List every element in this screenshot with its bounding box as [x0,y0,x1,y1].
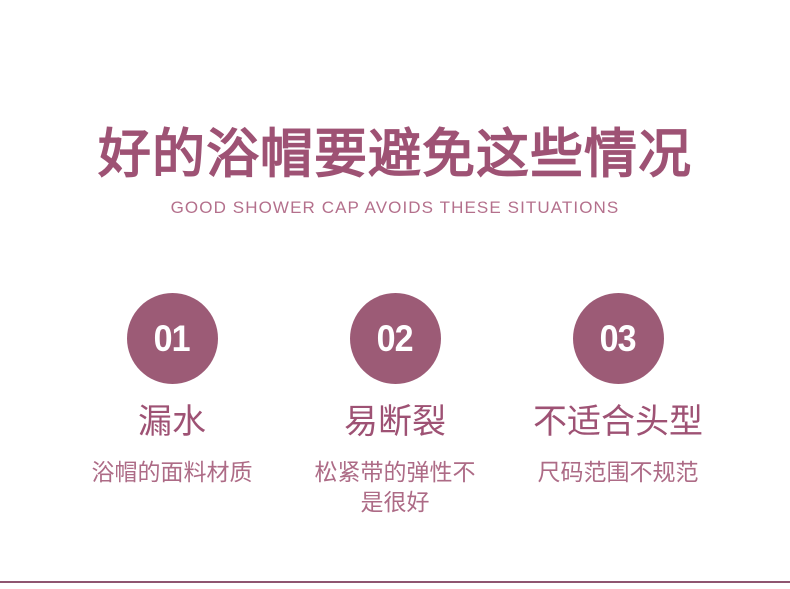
item-description-03: 尺码范围不规范 [538,457,699,487]
item-01: 01 漏水 浴帽的面料材质 [61,293,283,487]
item-heading-03: 不适合头型 [533,402,703,442]
badge-circle-02: 02 [350,293,441,384]
badge-number-02: 02 [377,320,413,357]
badge-circle-01: 01 [127,293,218,384]
item-description-01: 浴帽的面料材质 [92,457,253,487]
badge-number-01: 01 [154,320,190,357]
item-03: 03 不适合头型 尺码范围不规范 [507,293,729,487]
badge-number-03: 03 [600,320,636,357]
header-block: 好的浴帽要避免这些情况 GOOD SHOWER CAP AVOIDS THESE… [0,124,790,219]
infographic-page: 好的浴帽要避免这些情况 GOOD SHOWER CAP AVOIDS THESE… [0,0,790,589]
page-subtitle: GOOD SHOWER CAP AVOIDS THESE SITUATIONS [0,197,790,219]
item-heading-01: 漏水 [138,402,206,442]
badge-circle-03: 03 [573,293,664,384]
items-row: 01 漏水 浴帽的面料材质 02 易断裂 松紧带的弹性不是很好 03 不适合头型… [61,293,729,517]
bottom-divider [0,581,790,583]
item-description-02: 松紧带的弹性不是很好 [305,457,485,517]
page-title: 好的浴帽要避免这些情况 [0,124,790,186]
item-heading-02: 易断裂 [344,402,446,442]
item-02: 02 易断裂 松紧带的弹性不是很好 [284,293,506,517]
